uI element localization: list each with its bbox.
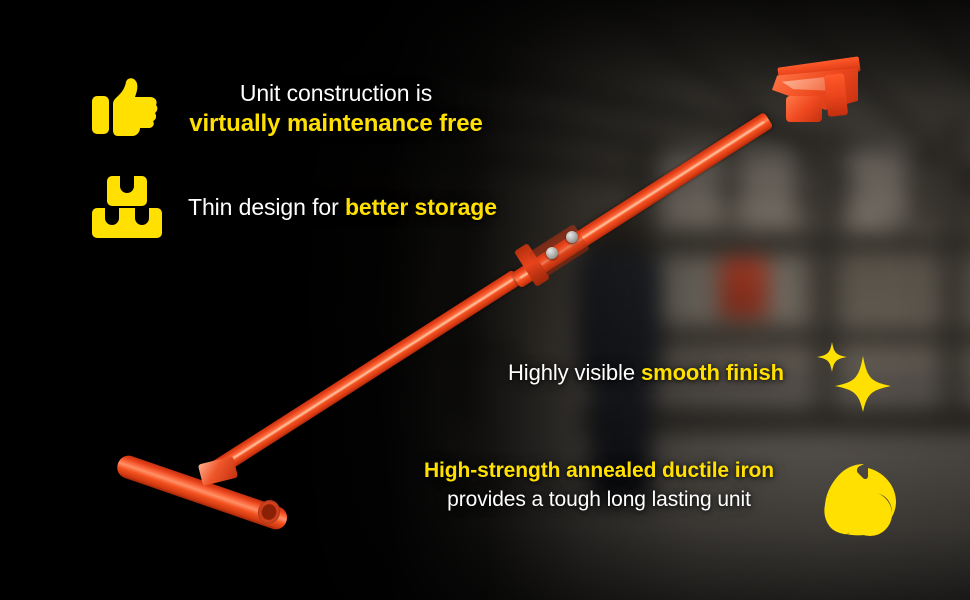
head-front-lip	[824, 73, 848, 117]
callout-finish: Highly visible smooth finish	[508, 358, 808, 388]
callout-storage: Thin design for better storage	[188, 192, 508, 223]
callout-iron-line2: provides a tough long lasting unit	[404, 485, 794, 514]
callout-finish-lead: Highly visible	[508, 360, 641, 385]
sparkle-icon	[815, 338, 893, 414]
callout-maintenance: Unit construction is virtually maintenan…	[178, 78, 494, 139]
callout-finish-line: Highly visible smooth finish	[508, 358, 808, 388]
product-feature-banner: Unit construction is virtually maintenan…	[0, 0, 970, 600]
callout-ductile-iron: High-strength annealed ductile iron prov…	[404, 457, 794, 514]
thumbs-up-icon	[92, 78, 158, 140]
t-handle-weld-joint	[198, 456, 238, 486]
callout-storage-highlight: better storage	[345, 194, 497, 220]
stacked-boxes-icon	[90, 174, 160, 240]
callout-iron-line1: High-strength annealed ductile iron	[404, 457, 794, 485]
joint-bolt	[546, 247, 558, 259]
head-neck	[786, 96, 822, 122]
callout-maintenance-line2: virtually maintenance free	[178, 108, 494, 139]
callout-maintenance-line1: Unit construction is	[178, 78, 494, 108]
callout-finish-highlight: smooth finish	[641, 360, 784, 385]
callout-storage-lead: Thin design for	[188, 194, 345, 220]
flexed-bicep-icon	[820, 462, 896, 536]
joint-bolt	[566, 231, 578, 243]
bar-shaft-lower-highlight	[217, 278, 514, 470]
callout-storage-line: Thin design for better storage	[188, 192, 508, 223]
